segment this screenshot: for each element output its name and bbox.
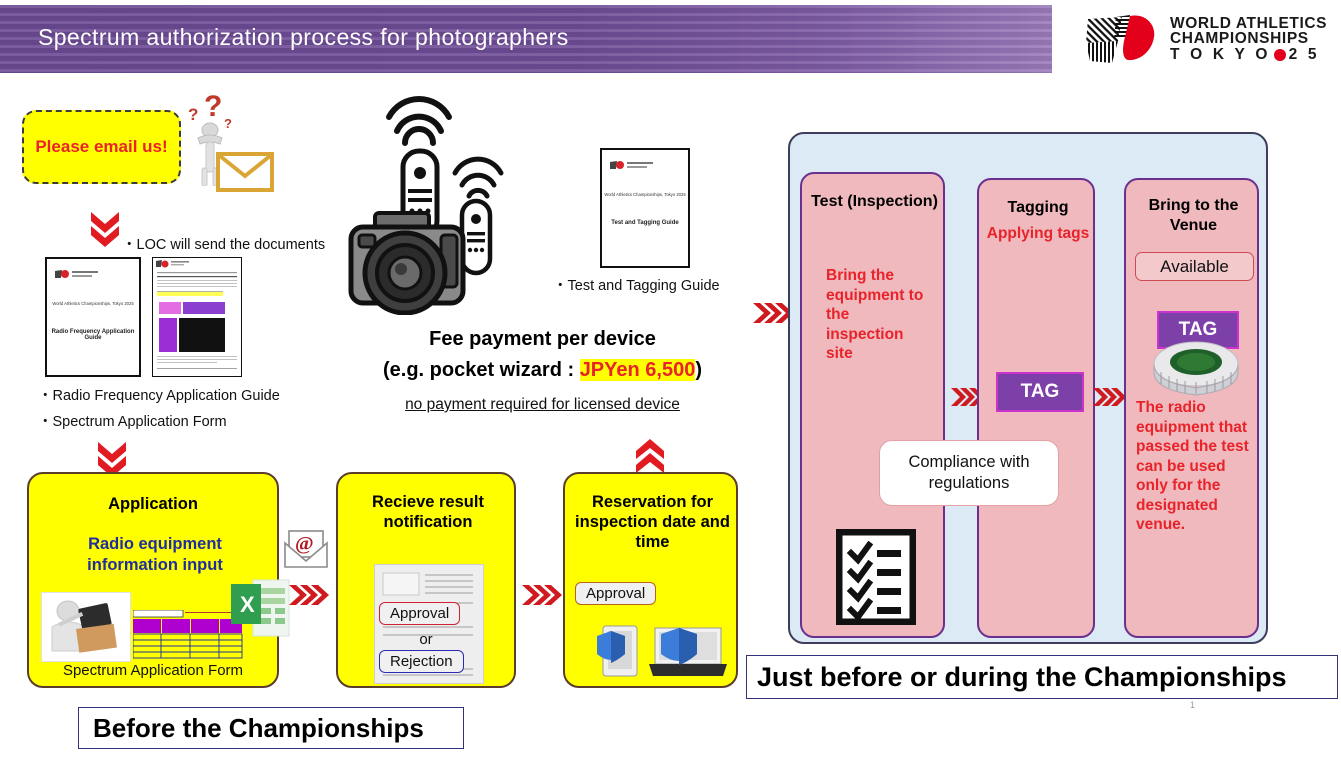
step-application-subheading: Radio equipment information input [41, 534, 269, 577]
doc-thumb-title: Radio Frequency Application Guide [47, 329, 139, 341]
logo-line-1: WORLD ATHLETICS [1170, 16, 1327, 32]
fee-line-2-prefix: (e.g. pocket wizard : [383, 359, 580, 381]
logo-line-2: CHAMPIONSHIPS [1170, 31, 1327, 47]
compliance-callout: Compliance with regulations [879, 440, 1059, 506]
guide-thumb-title: Test and Tagging Guide [602, 220, 688, 226]
fee-line-2-suffix: ) [695, 359, 702, 381]
chevron-down-icon-1 [88, 208, 122, 248]
tag-chip-tagging: TAG [996, 372, 1084, 412]
panel-column-venue-body: The radio equipment that passed the test… [1136, 398, 1254, 535]
banner-during-championships: Just before or during the Championships [746, 655, 1338, 699]
panel-column-tagging-body: Applying tags [983, 224, 1093, 244]
doc-bullet-1: Radio Frequency Application Guide [38, 384, 280, 405]
fee-amount: JPYen 6,500 [580, 359, 696, 381]
slide-canvas: Spectrum authorization process for photo… [0, 0, 1341, 758]
panel-column-tagging-heading: Tagging [983, 198, 1093, 218]
approval-pill: Approval [379, 602, 460, 625]
doc-thumb-spectrum-application-form [152, 257, 242, 377]
step-reservation-heading: Reservation for inspection date and time [573, 492, 732, 552]
step-application-caption: Spectrum Application Form [29, 662, 277, 679]
svg-text:?: ? [224, 116, 232, 131]
panel-column-test[interactable]: Test (Inspection) Bring the equipment to… [800, 172, 945, 638]
logo-tokyo-text: T O K Y O [1170, 47, 1271, 63]
person-at-desk-image [41, 592, 131, 662]
rejection-pill: Rejection [379, 650, 464, 673]
svg-text:?: ? [204, 90, 222, 123]
panel-column-tagging[interactable]: Tagging Applying tags TAG [977, 178, 1095, 638]
doc-thumb-subtitle: World Athletics Championships, Tokyo 202… [47, 301, 139, 306]
guide-thumb-subtitle: World Athletics Championships, Tokyo 202… [602, 192, 688, 197]
available-status-badge: Available [1135, 252, 1254, 281]
reservation-approval-pill: Approval [575, 582, 656, 605]
arrow-right-icon-2 [521, 582, 563, 608]
please-email-us-text: Please email us! [35, 137, 167, 156]
logo-red-dot-icon [1274, 49, 1286, 61]
arrow-right-icon-1 [288, 582, 330, 608]
page-title: Spectrum authorization process for photo… [38, 24, 938, 51]
doc-thumb-radio-frequency-guide: World Athletics Championships, Tokyo 202… [45, 257, 141, 377]
step-application-heading: Application [29, 494, 277, 514]
camera-with-transmitters-icon [345, 85, 535, 315]
doc-thumb-test-tagging-guide: World Athletics Championships, Tokyo 202… [600, 148, 690, 268]
logo-wordmark: WORLD ATHLETICS CHAMPIONSHIPS T O K Y O … [1170, 16, 1327, 63]
doc-bullet-2: Spectrum Application Form [38, 410, 227, 431]
loc-note-text: LOC will send the documents [122, 233, 325, 254]
fee-line-1: Fee payment per device [340, 328, 745, 351]
panel-column-bring-to-venue[interactable]: Bring to the Venue Available TAG The rad… [1124, 178, 1259, 638]
step-recieve-result[interactable]: Recieve result notification Approval or … [336, 472, 516, 688]
excel-file-icon: X [229, 578, 291, 645]
panel-column-test-heading: Test (Inspection) [808, 192, 941, 212]
svg-text:?: ? [188, 105, 198, 124]
world-athletics-logo: WORLD ATHLETICS CHAMPIONSHIPS T O K Y O … [1068, 6, 1341, 72]
step-recieve-result-heading: Recieve result notification [348, 492, 508, 532]
logo-emblem-icon [1082, 11, 1160, 67]
stadium-icon [1151, 338, 1241, 396]
fee-line-2: (e.g. pocket wizard : JPYen 6,500) [340, 359, 745, 382]
guide-bullet-text: Test and Tagging Guide [553, 274, 720, 295]
arrow-right-icon-5 [1092, 385, 1128, 409]
panel-column-test-body: Bring the equipment to the inspection si… [826, 266, 926, 364]
svg-text:@: @ [295, 533, 314, 555]
logo-year-text: 2 5 [1289, 47, 1320, 63]
secure-devices-image [589, 622, 729, 682]
at-email-icon: @ [282, 527, 330, 576]
step-application[interactable]: Application Radio equipment information … [27, 472, 279, 688]
guide-thumb-logo-icon [610, 157, 654, 166]
svg-text:X: X [240, 592, 255, 617]
please-email-us-callout: Please email us! [22, 110, 181, 184]
chevron-up-icon [633, 437, 667, 475]
fee-note-text: no payment required for licensed device [340, 396, 745, 414]
step-reservation[interactable]: Reservation for inspection date and time… [563, 472, 738, 688]
checklist-icon [836, 529, 916, 625]
doc-thumb-logo-icon [55, 266, 99, 275]
panel-column-venue-heading: Bring to the Venue [1132, 196, 1255, 235]
page-number: 1 [1190, 700, 1195, 710]
or-label: or [338, 631, 514, 648]
banner-before-championships: Before the Championships [78, 707, 464, 749]
fee-text-block: Fee payment per device (e.g. pocket wiza… [340, 328, 745, 392]
logo-line-3: T O K Y O 2 5 [1170, 47, 1327, 63]
envelope-icon [216, 150, 274, 194]
